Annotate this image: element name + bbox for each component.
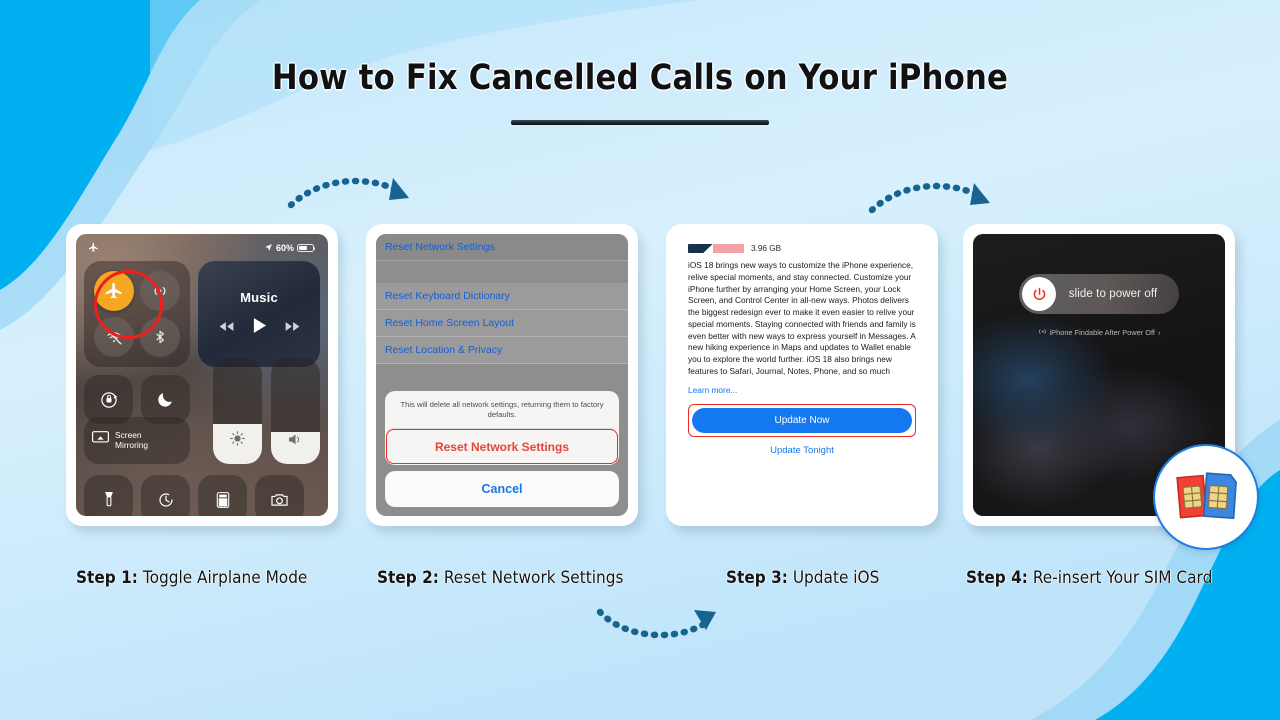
status-bar: 60%	[84, 241, 320, 255]
step-1-label: Toggle Airplane Mode	[143, 568, 308, 587]
screen-mirroring-label-2: Mirroring	[115, 440, 148, 450]
flashlight-button[interactable]	[84, 475, 133, 516]
arrow-step1-to-step2	[285, 170, 420, 220]
volume-slider[interactable]	[271, 358, 320, 464]
sim-card-icon	[1169, 462, 1243, 532]
update-tonight-button[interactable]: Update Tonight	[688, 445, 916, 456]
action-sheet: This will delete all network settings, r…	[385, 391, 619, 508]
highlight-rect-update-now: Update Now	[688, 404, 916, 437]
update-now-button[interactable]: Update Now	[692, 408, 912, 433]
camera-button[interactable]	[255, 475, 304, 516]
battery-percent-label: 60%	[276, 243, 294, 253]
screen-mirroring-icon	[91, 430, 110, 451]
step-4-card: slide to power off iPhone Findable After…	[963, 224, 1235, 526]
infographic-canvas: How to Fix Cancelled Calls on Your iPhon…	[0, 0, 1280, 720]
findable-row[interactable]: iPhone Findable After Power Off ›	[973, 327, 1225, 338]
step-2-number: Step 2:	[377, 568, 439, 587]
step-2-label: Reset Network Settings	[444, 568, 624, 587]
cancel-button[interactable]: Cancel	[385, 471, 619, 507]
screen-mirroring-button[interactable]: Screen Mirroring	[84, 417, 190, 464]
step-2-card: Reset Network Settings Reset Keyboard Di…	[366, 224, 638, 526]
update-description: iOS 18 brings new ways to customize the …	[688, 260, 916, 378]
action-sheet-message: This will delete all network settings, r…	[385, 391, 619, 429]
reset-settings-screen: Reset Network Settings Reset Keyboard Di…	[376, 234, 628, 516]
battery-icon	[297, 244, 314, 253]
fast-forward-icon[interactable]	[285, 319, 300, 337]
location-arrow-icon	[264, 243, 273, 254]
list-item-reset-network[interactable]: Reset Network Settings	[376, 234, 628, 261]
step-3-card: 3.96 GB iOS 18 brings new ways to custom…	[666, 224, 938, 526]
calculator-button[interactable]	[198, 475, 247, 516]
list-item-reset-location[interactable]: Reset Location & Privacy	[376, 337, 628, 364]
update-size-label: 3.96 GB	[751, 244, 781, 253]
sim-card-badge	[1153, 444, 1259, 550]
reset-network-settings-button[interactable]: Reset Network Settings	[385, 428, 619, 465]
page-title: How to Fix Cancelled Calls on Your iPhon…	[77, 58, 1203, 98]
arrow-bottom-step2-to-step3	[594, 602, 729, 650]
list-item-reset-home-screen[interactable]: Reset Home Screen Layout	[376, 310, 628, 337]
chevron-right-icon: ›	[1158, 328, 1160, 337]
slide-to-power-off-label: slide to power off	[1056, 288, 1176, 300]
highlight-circle-airplane	[94, 270, 163, 339]
step-1-card: 60%	[66, 224, 338, 526]
screen-mirroring-label-1: Screen	[115, 430, 142, 440]
learn-more-link[interactable]: Learn more...	[688, 385, 916, 395]
step-1-caption: Step 1: Toggle Airplane Mode	[76, 568, 307, 587]
brightness-icon	[229, 430, 246, 452]
title-block: How to Fix Cancelled Calls on Your iPhon…	[0, 58, 1280, 125]
step-4-caption: Step 4: Re-insert Your SIM Card	[966, 568, 1212, 587]
findable-label: iPhone Findable After Power Off	[1050, 328, 1155, 337]
timer-button[interactable]	[141, 475, 190, 516]
step-4-label: Re-insert Your SIM Card	[1033, 568, 1213, 587]
findmy-icon	[1038, 327, 1047, 338]
rewind-icon[interactable]	[219, 319, 234, 337]
storage-row: 3.96 GB	[688, 244, 916, 253]
step-4-number: Step 4:	[966, 568, 1028, 587]
music-label: Music	[240, 290, 278, 305]
airplane-icon	[88, 242, 99, 255]
storage-bar-icon	[688, 244, 744, 253]
brightness-slider[interactable]	[213, 358, 262, 464]
reset-options-list: Reset Network Settings Reset Keyboard Di…	[376, 234, 628, 364]
step-3-caption: Step 3: Update iOS	[726, 568, 879, 587]
power-icon[interactable]	[1022, 277, 1056, 311]
software-update-screen: 3.96 GB iOS 18 brings new ways to custom…	[676, 234, 928, 516]
step-2-caption: Step 2: Reset Network Settings	[377, 568, 623, 587]
step-3-label: Update iOS	[793, 568, 880, 587]
music-widget[interactable]: Music	[198, 261, 320, 367]
volume-icon	[287, 432, 304, 452]
title-divider	[511, 120, 769, 125]
step-3-number: Step 3:	[726, 568, 788, 587]
step-1-number: Step 1:	[76, 568, 138, 587]
list-item-reset-keyboard[interactable]: Reset Keyboard Dictionary	[376, 283, 628, 310]
play-icon[interactable]	[252, 317, 267, 339]
arrow-step3-to-step4	[866, 175, 1001, 225]
control-center-screen: 60%	[76, 234, 328, 516]
slide-to-power-off-slider[interactable]: slide to power off	[1019, 274, 1179, 314]
